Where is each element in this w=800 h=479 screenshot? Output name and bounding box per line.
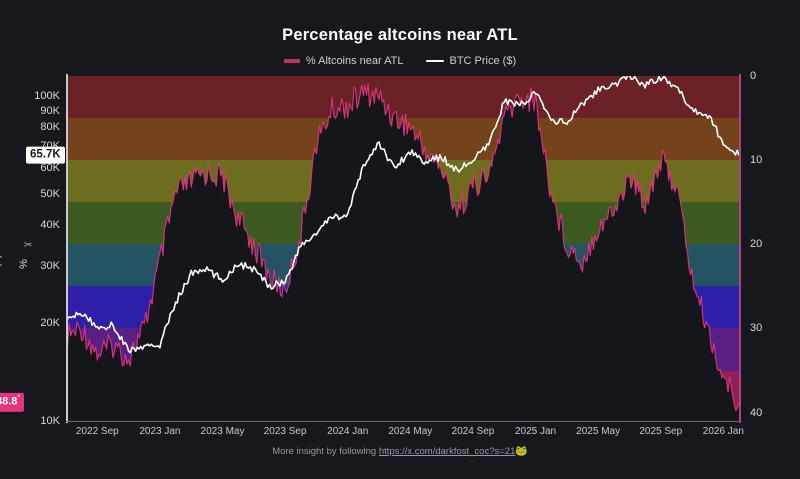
left-axis-tick: 100K [34, 90, 60, 102]
frog-emoji-icon: 🐸 [515, 446, 527, 457]
legend-item-btc[interactable]: BTC Price ($) [426, 55, 517, 67]
right-axis: 010203040 [750, 0, 800, 479]
right-axis-tick: 20 [750, 238, 762, 250]
chart-title: Percentage altcoins near ATL [0, 26, 800, 45]
percentage-marker-value: 38.8 [0, 396, 17, 408]
footer-link[interactable]: https://x.com/darkfost_coc?s=21 [379, 446, 516, 457]
bottom-axis-tick: 2026 Jan [703, 426, 744, 437]
legend-swatch-btc [426, 60, 444, 62]
footer-note: More insight by following https://x.com/… [0, 446, 800, 457]
right-axis-tick: 30 [750, 322, 762, 334]
plot-area [66, 76, 739, 421]
right-axis-tick: 10 [750, 154, 762, 166]
left-axis-tick: 90K [40, 105, 60, 117]
legend-item-altcoins[interactable]: % Altcoins near ATL [284, 55, 404, 67]
right-axis-title: % [18, 259, 30, 269]
chart-canvas: Percentage altcoins near ATL % Altcoins … [0, 0, 800, 479]
bottom-axis-tick: 2024 Sep [452, 426, 495, 437]
right-axis-line [739, 74, 741, 423]
scissors-icon: ✂ [24, 240, 32, 251]
legend-swatch-altcoins [284, 59, 300, 63]
percentage-marker-suffix: ° [17, 395, 20, 402]
left-axis-tick: 60K [40, 162, 60, 174]
bottom-axis-tick: 2023 May [201, 426, 245, 437]
left-axis-tick: 80K [40, 121, 60, 133]
bottom-axis-tick: 2025 May [576, 426, 620, 437]
left-axis-tick: 40K [40, 219, 60, 231]
right-axis-tick: 40 [750, 407, 762, 419]
left-axis-tick: 20K [40, 317, 60, 329]
legend-label-altcoins: % Altcoins near ATL [306, 55, 404, 67]
bottom-axis-tick: 2023 Sep [264, 426, 307, 437]
percentage-marker-label: 38.8° [0, 393, 24, 411]
bottom-axis: 2022 Sep2023 Jan2023 May2023 Sep2024 Jan… [0, 426, 800, 446]
bottom-axis-line [66, 421, 741, 422]
bottom-axis-tick: 2024 Jan [327, 426, 368, 437]
bottom-axis-tick: 2023 Jan [139, 426, 180, 437]
left-axis-title: Price ($) [0, 254, 2, 296]
left-axis-tick: 30K [40, 260, 60, 272]
footer-prefix: More insight by following [272, 446, 379, 457]
btc-price-line [66, 76, 739, 421]
bottom-axis-tick: 2025 Sep [639, 426, 682, 437]
price-marker-label: 65.7K [26, 147, 65, 164]
bottom-axis-tick: 2025 Jan [515, 426, 556, 437]
left-axis-tick: 50K [40, 188, 60, 200]
chart-legend: % Altcoins near ATL BTC Price ($) [0, 55, 800, 67]
bottom-axis-tick: 2024 May [388, 426, 432, 437]
bottom-axis-tick: 2022 Sep [76, 426, 119, 437]
left-axis-line [66, 74, 68, 423]
legend-label-btc: BTC Price ($) [450, 55, 517, 67]
right-axis-tick: 0 [750, 70, 756, 82]
